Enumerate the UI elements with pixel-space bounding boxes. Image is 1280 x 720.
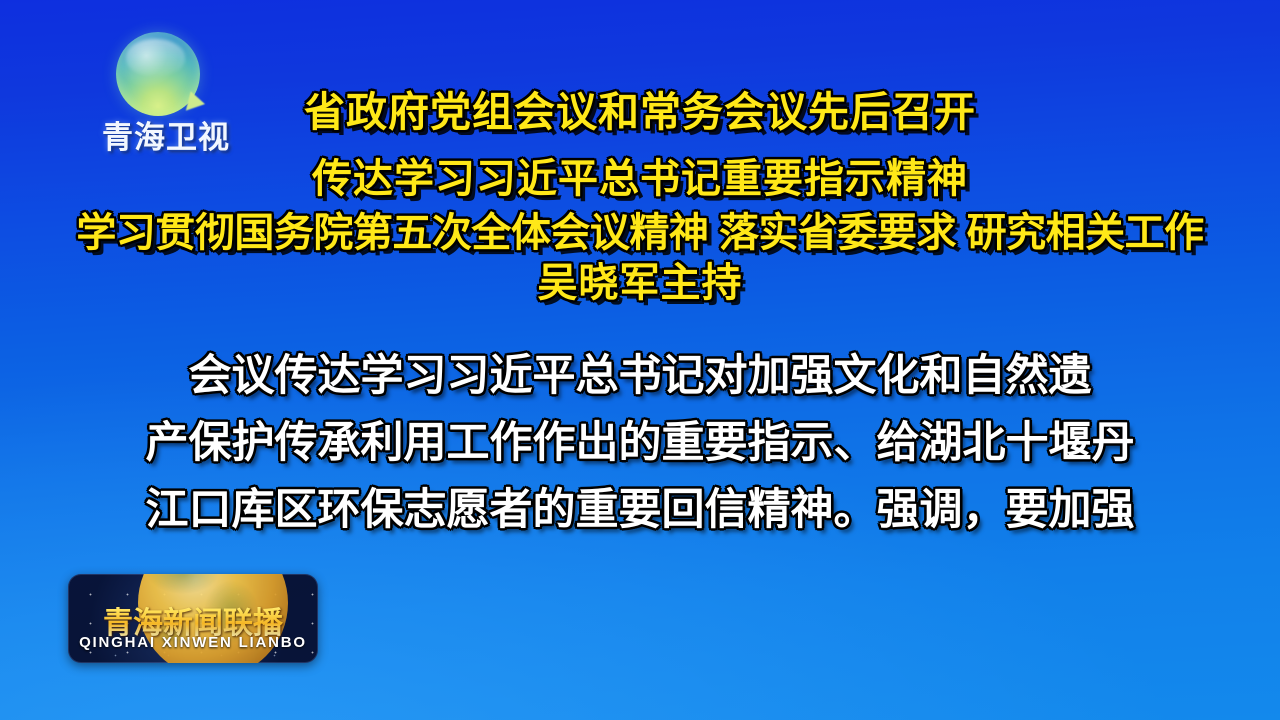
program-badge: 青海新闻联播 QINGHAI XINWEN LIANBO (68, 574, 318, 663)
program-name-pinyin-label: QINGHAI XINWEN LIANBO (68, 634, 318, 651)
headline-line-2: 传达学习习近平总书记重要指示精神 (0, 159, 1280, 199)
subtitle-line-1: 会议传达学习习近平总书记对加强文化和自然遗 (0, 355, 1280, 398)
subtitle-line-3: 江口库区环保志愿者的重要回信精神。强调，要加强 (0, 489, 1280, 532)
subtitle-line-2: 产保护传承利用工作作出的重要指示、给湖北十堰丹 (0, 422, 1280, 465)
broadcast-frame: 青海卫视 省政府党组会议和常务会议先后召开 传达学习习近平总书记重要指示精神 学… (0, 0, 1280, 720)
headline-block: 省政府党组会议和常务会议先后召开 传达学习习近平总书记重要指示精神 学习贯彻国务… (0, 92, 1280, 303)
logo-sphere-highlight (126, 39, 185, 76)
headline-line-4: 吴晓军主持 (0, 263, 1280, 303)
headline-line-3: 学习贯彻国务院第五次全体会议精神 落实省委要求 研究相关工作 (0, 213, 1280, 253)
headline-line-1: 省政府党组会议和常务会议先后召开 (0, 92, 1280, 133)
subtitle-block: 会议传达学习习近平总书记对加强文化和自然遗 产保护传承利用工作作出的重要指示、给… (0, 355, 1280, 532)
